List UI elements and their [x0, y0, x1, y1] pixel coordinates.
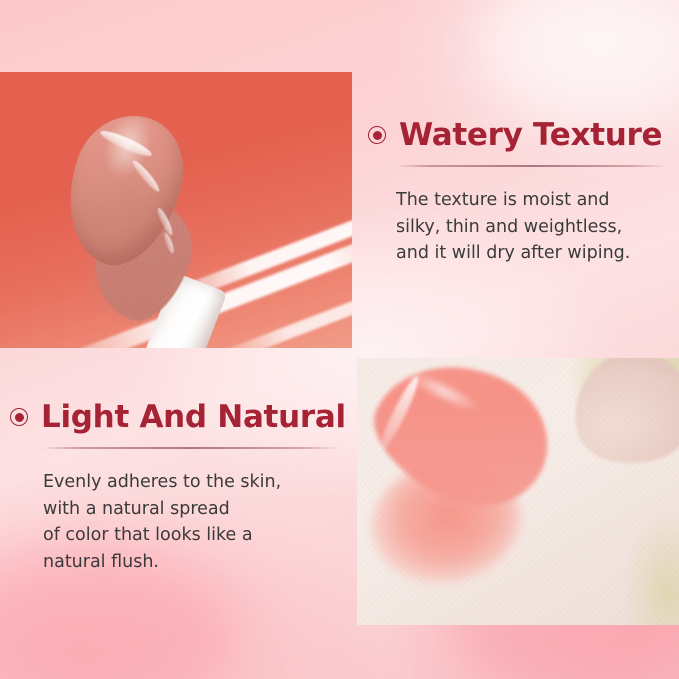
- feature-block-watery-texture: Watery Texture The texture is moist and …: [368, 118, 668, 267]
- hand-knuckle: [560, 358, 679, 478]
- feature-block-light-and-natural: Light And Natural Evenly adheres to the …: [10, 400, 350, 575]
- feature-description: Evenly adheres to the skin, with a natur…: [43, 469, 350, 575]
- lip-gloss-applicator-photo: [0, 72, 352, 348]
- record-dot-icon: [10, 408, 28, 426]
- infographic-canvas: Watery Texture The texture is moist and …: [0, 0, 679, 679]
- heading-divider: [42, 447, 342, 449]
- feature-title: Watery Texture: [399, 118, 662, 152]
- heading-divider: [396, 165, 668, 167]
- feature-description: The texture is moist and silky, thin and…: [396, 187, 668, 267]
- feature-heading-row: Light And Natural: [10, 400, 350, 434]
- feature-heading-row: Watery Texture: [368, 118, 668, 152]
- feature-title: Light And Natural: [41, 400, 346, 434]
- background-cloud-top-right: [479, 0, 679, 120]
- skin-swatch-photo: [357, 358, 679, 625]
- record-dot-icon: [368, 126, 386, 144]
